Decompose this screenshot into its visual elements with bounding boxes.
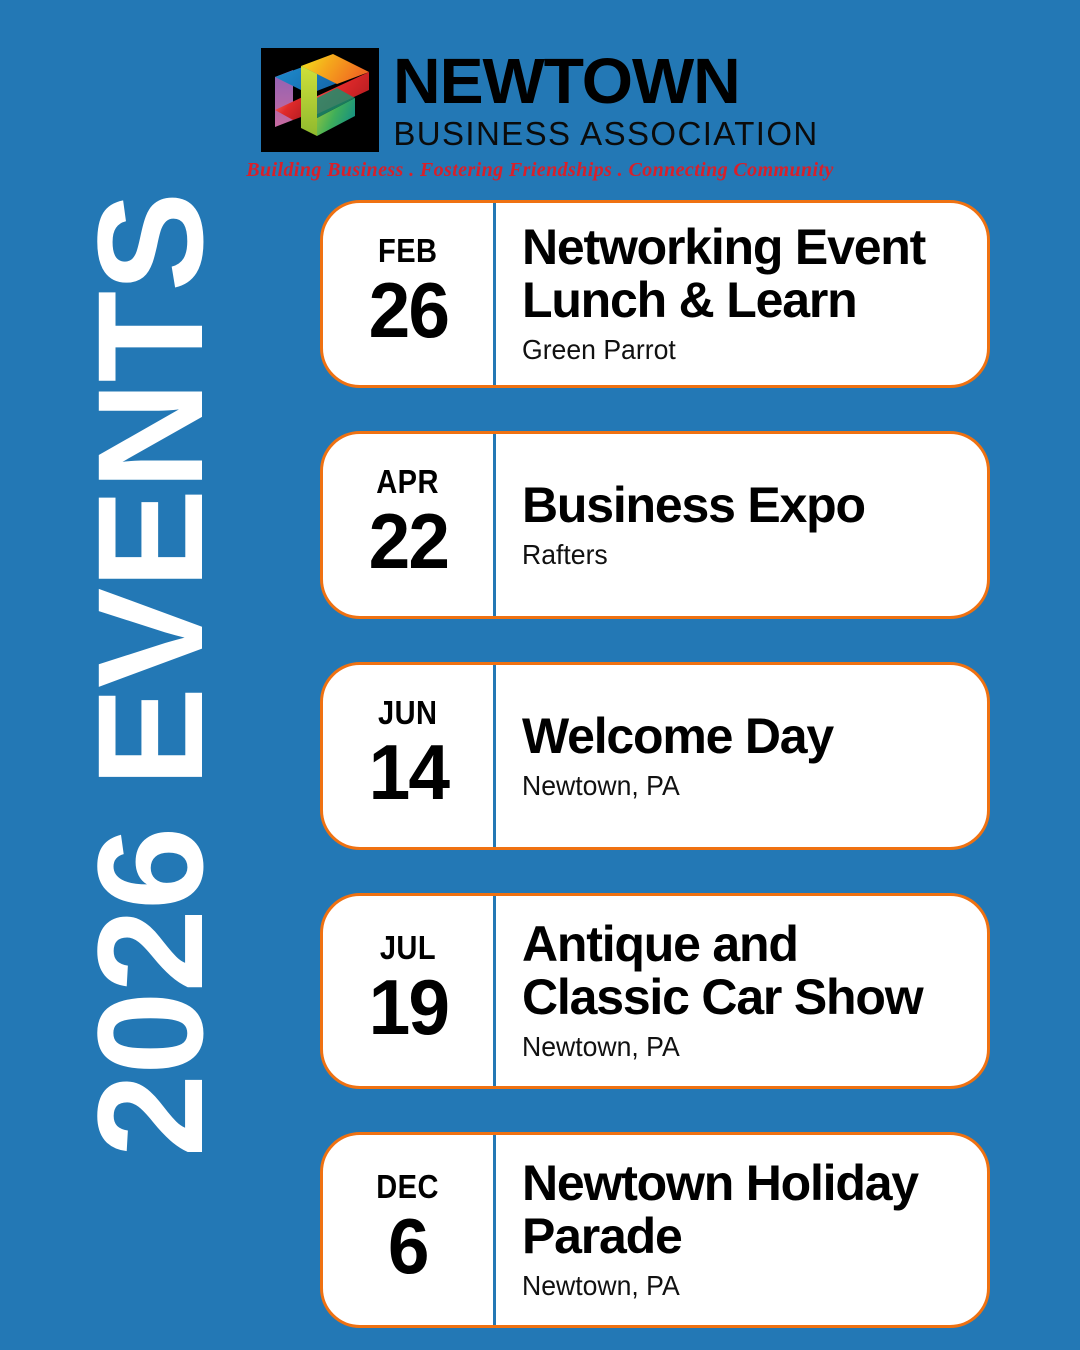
brand-name: NEWTOWN xyxy=(393,50,740,113)
event-card[interactable]: DEC 6 Newtown Holiday Parade Newtown, PA xyxy=(320,1132,990,1328)
event-title: Business Expo xyxy=(522,479,961,532)
event-month: FEB xyxy=(378,234,437,267)
event-month: JUN xyxy=(378,696,437,729)
event-date: FEB 26 xyxy=(323,203,493,385)
event-details: Business Expo Rafters xyxy=(496,434,987,616)
event-title: Antique and Classic Car Show xyxy=(522,918,961,1024)
event-details: Antique and Classic Car Show Newtown, PA xyxy=(496,896,987,1086)
event-details: Newtown Holiday Parade Newtown, PA xyxy=(496,1135,987,1325)
event-date: APR 22 xyxy=(323,434,493,616)
event-month: APR xyxy=(377,465,440,498)
event-venue: Newtown, PA xyxy=(522,1030,939,1064)
logo-lockup: NEWTOWN BUSINESS ASSOCIATION xyxy=(261,48,818,153)
event-card[interactable]: FEB 26 Networking Event Lunch & Learn Gr… xyxy=(320,200,990,388)
event-venue: Newtown, PA xyxy=(522,769,939,803)
event-details: Networking Event Lunch & Learn Green Par… xyxy=(496,203,987,385)
brand-wordmark: NEWTOWN BUSINESS ASSOCIATION xyxy=(393,48,818,153)
event-date: JUN 14 xyxy=(323,665,493,847)
event-date: JUL 19 xyxy=(323,896,493,1086)
side-title-container: 2026 EVENTS xyxy=(0,0,300,1350)
page-title: 2026 EVENTS xyxy=(75,193,225,1158)
event-date: DEC 6 xyxy=(323,1135,493,1325)
event-card[interactable]: JUL 19 Antique and Classic Car Show Newt… xyxy=(320,893,990,1089)
events-list: FEB 26 Networking Event Lunch & Learn Gr… xyxy=(320,200,990,1350)
event-title: Newtown Holiday Parade xyxy=(522,1157,961,1263)
event-day: 6 xyxy=(388,1207,428,1287)
brand-subtitle: BUSINESS ASSOCIATION xyxy=(393,115,818,153)
event-card[interactable]: JUN 14 Welcome Day Newtown, PA xyxy=(320,662,990,850)
event-title: Networking Event Lunch & Learn xyxy=(522,221,961,327)
event-venue: Green Parrot xyxy=(522,333,939,367)
brand-tagline: Building Business . Fostering Friendship… xyxy=(246,159,833,182)
event-venue: Rafters xyxy=(522,538,939,572)
event-day: 19 xyxy=(368,968,447,1048)
event-venue: Newtown, PA xyxy=(522,1269,939,1303)
newtown-cube-logo-icon xyxy=(261,48,379,152)
event-details: Welcome Day Newtown, PA xyxy=(496,665,987,847)
event-title: Welcome Day xyxy=(522,710,961,763)
event-card[interactable]: APR 22 Business Expo Rafters xyxy=(320,431,990,619)
event-month: JUL xyxy=(380,931,436,964)
event-day: 14 xyxy=(368,733,447,813)
header: NEWTOWN BUSINESS ASSOCIATION Building Bu… xyxy=(0,48,1080,182)
event-day: 26 xyxy=(368,271,447,351)
event-day: 22 xyxy=(368,502,447,582)
event-month: DEC xyxy=(377,1170,440,1203)
